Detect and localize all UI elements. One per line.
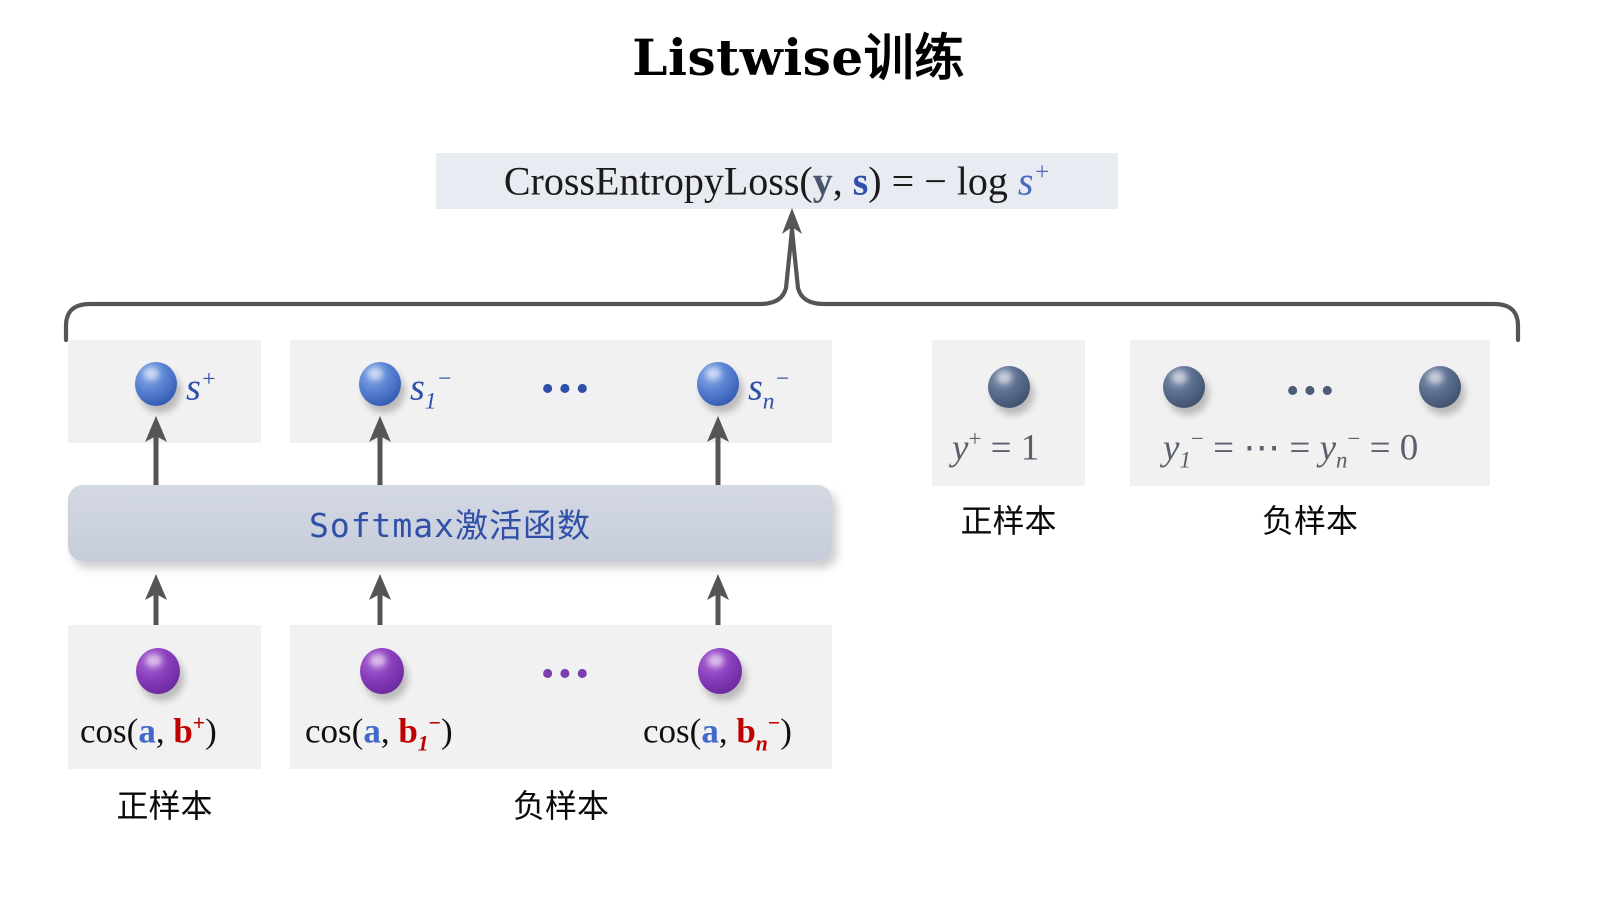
target-negative-subscript-first: 1 <box>1179 448 1190 473</box>
score-negative-first-label: s1− <box>410 368 452 414</box>
brace-right <box>792 230 1518 340</box>
cos-negative-last-vector-a: a <box>701 712 719 751</box>
target-negative-superscript-first: − <box>1191 426 1204 451</box>
target-positive-value: 1 <box>1021 427 1040 468</box>
cos-negative-first-superscript: − <box>429 711 441 735</box>
cos-positive-label: cos(a, b+) <box>80 713 217 749</box>
score-negative-first-subscript: 1 <box>425 388 437 414</box>
score-positive-label: s+ <box>186 368 217 407</box>
cos-negative-first-sphere <box>360 648 404 694</box>
formula-score-superscript: + <box>1033 159 1050 186</box>
formula-close-paren: ) <box>868 158 881 203</box>
target-negative-first-sphere <box>1163 366 1205 408</box>
score-negative-first-symbol: s <box>410 367 425 409</box>
cos-ellipsis: ••• <box>541 655 593 693</box>
score-negative-last-subscript: n <box>763 388 775 414</box>
formula-comma: , <box>833 158 853 203</box>
cos-negative-last-superscript: − <box>768 711 780 735</box>
score-negative-last-symbol: s <box>748 367 763 409</box>
caption-left-positive-sample: 正样本 <box>68 790 261 822</box>
cos-negative-first-vector-b: b <box>398 712 417 751</box>
target-positive-symbol: y <box>952 427 968 468</box>
cos-negative-first-subscript: 1 <box>418 732 429 756</box>
formula-log: log <box>957 158 1018 203</box>
score-ellipsis: ••• <box>541 370 593 408</box>
score-negative-last-sphere <box>697 362 739 406</box>
target-ellipsis: ••• <box>1286 372 1338 410</box>
softmax-activation-bar[interactable]: Softmax激活函数 <box>68 485 832 561</box>
brace-arrow-head <box>782 208 802 234</box>
cos-positive-superscript: + <box>193 711 205 735</box>
score-positive-symbol: s <box>186 367 201 409</box>
cos-negative-last-close-paren: ) <box>780 712 792 751</box>
cos-negative-last-sphere <box>698 648 742 694</box>
formula-score-symbol: s <box>1018 158 1034 203</box>
target-negative-symbol-last: y <box>1320 427 1336 468</box>
cos-negative-last-subscript: n <box>756 732 768 756</box>
formula-arg-s: s <box>853 158 869 203</box>
formula-arg-y: y <box>813 158 833 203</box>
score-positive-sphere <box>135 362 177 406</box>
score-negative-last-label: sn− <box>748 368 790 414</box>
cos-positive-sphere <box>136 648 180 694</box>
caption-right-negative-sample: 负样本 <box>1130 505 1490 537</box>
brace-left <box>66 230 792 340</box>
target-positive-sphere <box>988 366 1030 408</box>
target-negative-last-sphere <box>1419 366 1461 408</box>
loss-formula-text: CrossEntropyLoss(y, s) = − log s+ <box>504 161 1050 201</box>
cos-negative-last-fn: cos( <box>643 712 701 751</box>
score-negative-last-superscript: − <box>775 366 791 392</box>
target-positive-equals: = <box>981 427 1020 468</box>
caption-right-positive-sample: 正样本 <box>932 505 1085 537</box>
cos-negative-first-separator: , <box>381 712 399 751</box>
formula-open-paren: ( <box>799 158 812 203</box>
formula-equals: = <box>882 158 925 203</box>
caption-left-negative-sample: 负样本 <box>290 790 832 822</box>
target-negative-middle: = ⋯ = <box>1204 427 1320 468</box>
cos-negative-last-vector-b: b <box>736 712 755 751</box>
cos-positive-vector-a: a <box>138 712 156 751</box>
score-negative-first-sphere <box>359 362 401 406</box>
target-positive-label: y+ = 1 <box>952 428 1039 466</box>
target-negative-symbol-first: y <box>1163 427 1179 468</box>
diagram-canvas: Listwise训练 CrossEntropyLoss(y, s) = − lo… <box>0 0 1597 902</box>
cos-negative-first-fn: cos( <box>305 712 363 751</box>
page-title: Listwise训练 <box>0 18 1597 90</box>
formula-minus: − <box>924 158 957 203</box>
cos-positive-vector-b: b <box>173 712 192 751</box>
cos-negative-last-separator: , <box>719 712 737 751</box>
score-negative-first-superscript: − <box>437 366 453 392</box>
target-positive-superscript: + <box>968 426 981 451</box>
cos-positive-close-paren: ) <box>205 712 217 751</box>
cos-negative-last-label: cos(a, bn−) <box>643 713 792 755</box>
cos-negative-first-close-paren: ) <box>441 712 453 751</box>
cos-positive-fn: cos( <box>80 712 138 751</box>
cos-negative-first-label: cos(a, b1−) <box>305 713 453 755</box>
target-negative-equals: = <box>1360 427 1399 468</box>
brace-arrow-connector <box>0 200 1597 360</box>
score-positive-superscript: + <box>201 366 217 392</box>
target-negative-subscript-last: n <box>1336 448 1347 473</box>
cos-positive-separator: , <box>156 712 174 751</box>
softmax-label: Softmax激活函数 <box>309 499 591 547</box>
loss-formula-box: CrossEntropyLoss(y, s) = − log s+ <box>436 153 1118 209</box>
target-negative-value: 0 <box>1400 427 1419 468</box>
target-negative-superscript-last: − <box>1347 426 1360 451</box>
target-negative-label: y1− = ⋯ = yn− = 0 <box>1163 428 1418 473</box>
cos-negative-first-vector-a: a <box>363 712 381 751</box>
formula-fn-name: CrossEntropyLoss <box>504 158 800 203</box>
